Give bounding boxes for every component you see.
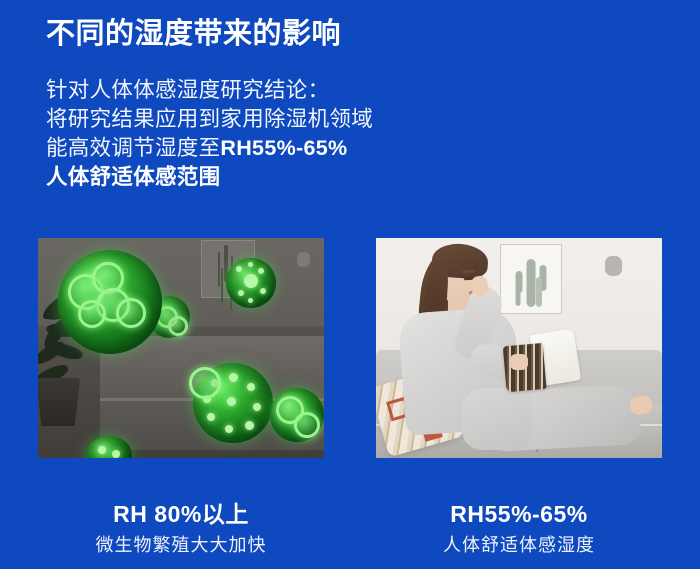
wall-sconce-dark-icon (297, 252, 310, 267)
microbe-spike (253, 403, 261, 411)
microbe-spike (236, 266, 242, 272)
woman-hand-holding-book (510, 354, 528, 370)
microbe-spike (238, 290, 244, 296)
microbe-sphere-large (58, 250, 162, 354)
microbe-spike (248, 298, 253, 303)
microbe-cell (189, 367, 221, 399)
wall-sconce-icon (605, 256, 622, 276)
microbe-spike (245, 421, 254, 430)
microbe-spike (207, 413, 215, 421)
microbe-spike (98, 446, 106, 454)
caption-high-humidity: RH 80%以上 微生物繁殖大大加快 (38, 499, 324, 557)
page-title: 不同的湿度带来的影响 (46, 17, 341, 52)
microbe-cell (168, 316, 188, 336)
caption-comfort-humidity: RH55%-65% 人体舒适体感湿度 (376, 499, 662, 557)
microbe-cell (294, 412, 320, 438)
microbe-sphere-right (270, 388, 324, 442)
body-copy: 针对人体体感湿度研究结论： 将研究结果应用到家用除湿机领域 能高效调节湿度至RH… (46, 76, 373, 192)
body-line-3-emphasis: RH55%-65% (220, 136, 347, 160)
caption-subtitle: 人体舒适体感湿度 (376, 533, 662, 557)
microbe-spike (225, 425, 233, 433)
cactus-icon (527, 259, 536, 307)
caption-title: RH 80%以上 (38, 499, 324, 529)
microbe-spike (112, 450, 120, 458)
caption-title: RH55%-65% (376, 499, 662, 529)
microbe-sphere-mid (193, 363, 273, 443)
cactus-small-icon (536, 277, 542, 307)
body-line-1: 针对人体体感湿度研究结论： (46, 76, 373, 105)
microbe-sphere-small (226, 258, 276, 308)
microbe-core (244, 274, 258, 288)
body-line-2: 将研究结果应用到家用除湿机领域 (46, 105, 373, 134)
microbe-cell (116, 298, 146, 328)
microbe-core (227, 397, 236, 406)
bright-room-scene (376, 238, 662, 458)
microbe-spike (247, 383, 255, 391)
body-line-3: 能高效调节湿度至RH55%-65% (46, 134, 373, 163)
microbe-spike (260, 288, 266, 294)
photo-comfort-humidity (376, 238, 662, 458)
microbe-spike (248, 262, 253, 267)
woman-lap (462, 388, 532, 450)
wall-art-frame-cactus (500, 244, 562, 314)
microbe-spike (229, 373, 238, 382)
microbe-cell (78, 300, 106, 328)
dark-room-scene (38, 238, 324, 458)
photo-panels (0, 238, 700, 458)
photo-high-humidity (38, 238, 324, 458)
microbe-spike (258, 268, 264, 274)
body-line-4: 人体舒适体感范围 (46, 163, 373, 192)
caption-subtitle: 微生物繁殖大大加快 (38, 533, 324, 557)
body-line-3-prefix: 能高效调节湿度至 (46, 136, 220, 160)
humidity-infographic-page: 不同的湿度带来的影响 针对人体体感湿度研究结论： 将研究结果应用到家用除湿机领域… (0, 0, 700, 569)
plant-pot-dark (38, 378, 80, 426)
